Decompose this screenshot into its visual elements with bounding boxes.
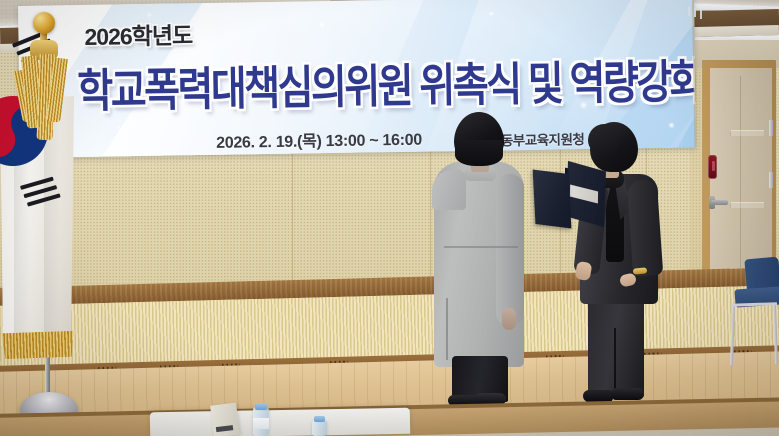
- door-hinge: [769, 172, 773, 188]
- door-hinge: [769, 120, 773, 136]
- banner-year-line: 2026학년도: [84, 16, 192, 52]
- shoe: [612, 388, 644, 400]
- banner-bokeh: [116, 124, 121, 129]
- suit-trousers: [588, 298, 644, 398]
- coat-sleeve: [496, 174, 524, 324]
- hand: [502, 308, 516, 330]
- banner-bokeh: [488, 11, 494, 17]
- banner-datetime: 2026. 2. 19.(목) 13:00 ~ 16:00: [216, 126, 422, 153]
- bottle-label: [253, 418, 269, 429]
- banner-title: 학교폭력대책심의위원 위촉식 및 역량강화 연수: [77, 44, 697, 121]
- bottle-cap: [314, 416, 325, 422]
- photo-scene: 2026학년도 학교폭력대책심의위원 위촉식 및 역량강화 연수 2026. 2…: [0, 0, 779, 436]
- banner-bokeh: [58, 21, 67, 30]
- hair-back: [455, 140, 503, 166]
- foreground-papers: [210, 403, 240, 436]
- person-recipient: [424, 112, 532, 404]
- flag-finial-icon: [33, 12, 55, 34]
- certificate-folder: [534, 166, 606, 228]
- bottle-cap: [255, 403, 267, 410]
- folder-left-leaf: [533, 170, 572, 229]
- hair-fringe: [588, 124, 618, 154]
- person-presenter: [570, 122, 670, 404]
- door-panel-line: [730, 202, 764, 208]
- foreground-table: [150, 408, 410, 436]
- banner-hook: [688, 7, 690, 16]
- coat-vent: [446, 298, 448, 360]
- coat-seam: [444, 246, 518, 248]
- banner-hook: [694, 8, 696, 17]
- coat-shoulder: [432, 170, 466, 210]
- flag-fringe: [2, 331, 75, 359]
- water-bottle[interactable]: [312, 420, 327, 436]
- door-lock-keypad[interactable]: [708, 155, 717, 179]
- banner-bokeh: [318, 21, 325, 28]
- door-panel-line: [730, 130, 764, 136]
- banner-hook: [700, 10, 702, 19]
- door-handle[interactable]: [711, 200, 728, 205]
